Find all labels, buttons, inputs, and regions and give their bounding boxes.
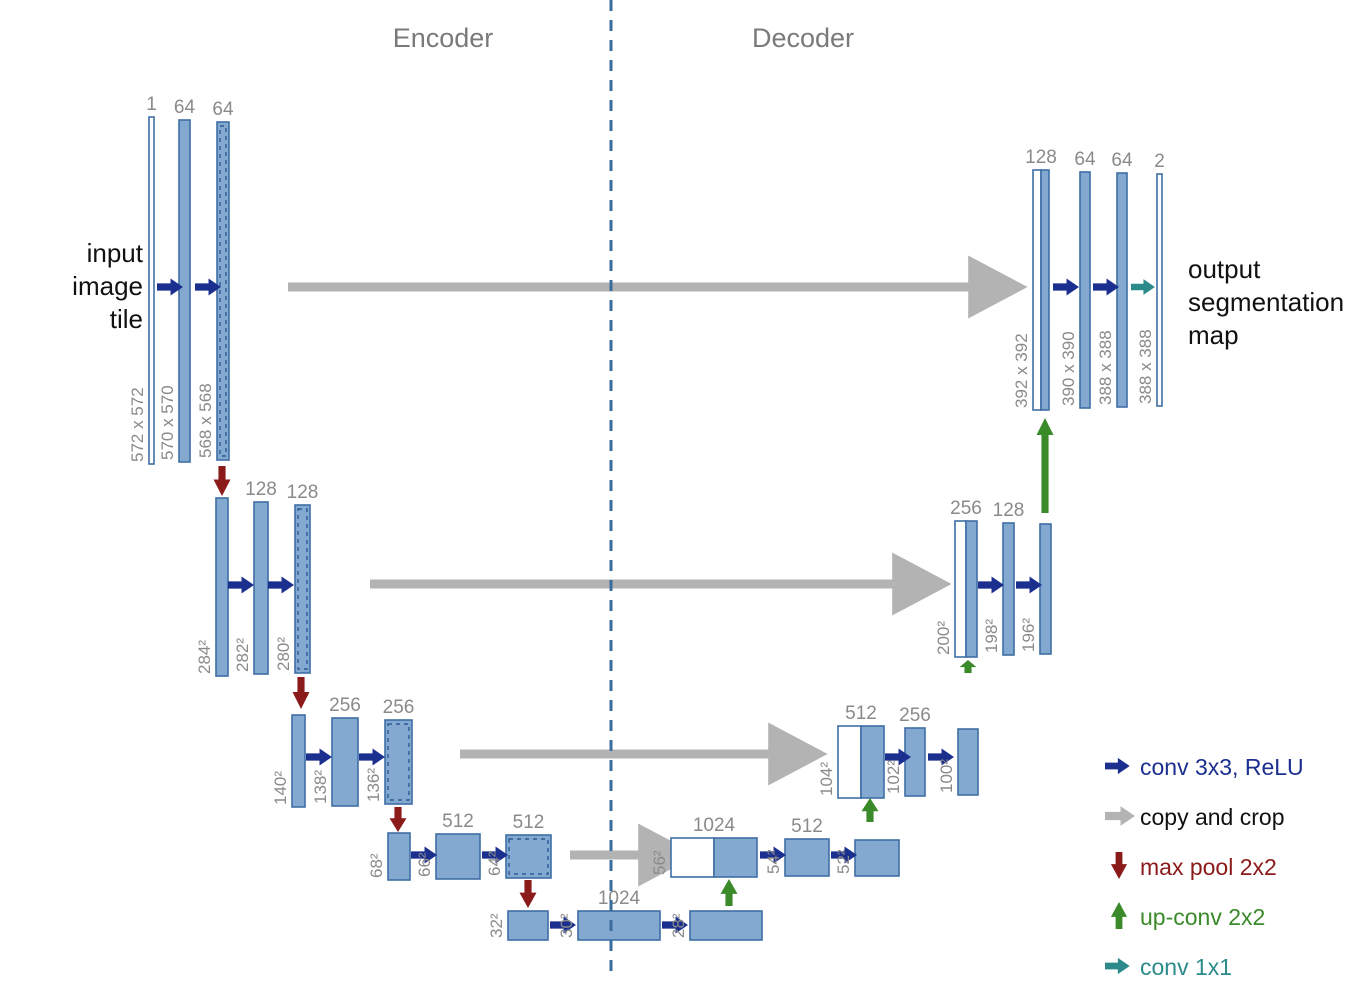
block-4-up — [671, 838, 757, 877]
block-2-c1-rect — [254, 502, 268, 674]
block-1-out — [1157, 174, 1162, 406]
right-arrow-icon — [1105, 806, 1135, 826]
legend-label-3: up-conv 2x2 — [1140, 904, 1265, 930]
block-3-up-crop — [838, 726, 861, 798]
block-4-c1-rect — [436, 834, 480, 879]
block-3-d2-dim: 100² — [937, 759, 956, 793]
diagram-canvas: 1572 x 57264570 x 57064568 x 568128392 x… — [0, 0, 1368, 984]
block-1-up — [1033, 170, 1049, 410]
block-4-d2 — [855, 840, 899, 876]
block-1-up-crop — [1033, 170, 1041, 410]
block-4-c2-channels: 512 — [513, 812, 545, 833]
block-1-d2-channels: 64 — [1111, 150, 1133, 171]
block-1-out-dim: 388 x 388 — [1136, 329, 1155, 404]
block-5-c1 — [578, 911, 660, 940]
block-4-up-channels: 1024 — [693, 815, 736, 836]
conv-arrow — [306, 749, 332, 766]
maxpool-arrow — [390, 807, 407, 832]
block-3-up-dim: 104² — [817, 762, 836, 796]
block-4-d1-channels: 512 — [791, 816, 823, 837]
output-label-line-0: output — [1188, 254, 1261, 284]
input-label-line-2: tile — [110, 304, 143, 334]
block-3-c1-rect — [332, 718, 358, 806]
legend-label-4: conv 1x1 — [1140, 954, 1232, 980]
block-4-in-dim: 68² — [367, 853, 386, 878]
block-1-d2 — [1117, 173, 1127, 407]
block-1-c2-rect — [217, 122, 229, 460]
block-2-in-dim: 284² — [195, 640, 214, 674]
block-4-in — [388, 833, 410, 880]
conv-arrow — [359, 749, 385, 766]
block-5-c2-dim: 28² — [669, 913, 688, 938]
input-label-line-1: image — [72, 271, 143, 301]
block-3-d2 — [958, 729, 978, 795]
block-4-d2-dim: 52² — [834, 849, 853, 874]
block-2-d2-rect — [1040, 524, 1051, 654]
unet-diagram: 1572 x 57264570 x 57064568 x 568128392 x… — [0, 0, 1368, 984]
block-1-up-fill — [1041, 170, 1049, 410]
block-5-in-dim: 32² — [487, 913, 506, 938]
block-4-c1-channels: 512 — [442, 811, 474, 832]
block-4-d1 — [785, 839, 829, 876]
conv-arrow — [1053, 279, 1079, 296]
conv1x1-arrow — [1131, 279, 1155, 295]
block-2-c2-rect — [295, 505, 310, 673]
block-1-d1-channels: 64 — [1074, 149, 1096, 170]
upconv-arrow — [862, 798, 879, 822]
block-4-d1-dim: 54² — [764, 849, 783, 874]
block-2-c2-channels: 128 — [287, 482, 319, 503]
block-5-c1-channels: 1024 — [598, 888, 641, 909]
block-3-up-channels: 512 — [845, 703, 877, 724]
block-5-c2-rect — [690, 911, 762, 940]
legend-label-0: conv 3x3, ReLU — [1140, 754, 1304, 780]
block-5-c1-rect — [578, 911, 660, 940]
block-1-d1-rect — [1080, 172, 1090, 408]
upconv-arrow — [1037, 418, 1054, 513]
output-label-line-2: map — [1188, 320, 1239, 350]
block-1-c1-rect — [179, 120, 190, 462]
conv-arrow — [1093, 279, 1119, 296]
block-1-out-rect — [1157, 174, 1162, 406]
block-4-up-crop — [671, 838, 714, 877]
conv-arrow — [978, 577, 1004, 594]
input-label-line-0: input — [87, 238, 144, 268]
block-1-in-channels: 1 — [146, 94, 157, 115]
block-1-c2 — [217, 122, 229, 460]
block-3-c1-dim: 138² — [311, 770, 330, 804]
block-4-in-rect — [388, 833, 410, 880]
block-2-d2-dim: 196² — [1019, 618, 1038, 652]
conv-arrow — [1016, 577, 1042, 594]
block-2-up-channels: 256 — [950, 498, 982, 519]
block-1-c2-dim: 568 x 568 — [196, 383, 215, 458]
block-3-d2-rect — [958, 729, 978, 795]
block-5-in-rect — [508, 911, 548, 940]
block-3-d1-dim: 102² — [884, 760, 903, 794]
block-2-c1-channels: 128 — [245, 479, 277, 500]
block-2-in — [216, 498, 228, 676]
block-4-up-dim: 56² — [650, 850, 669, 875]
block-3-d1 — [905, 728, 925, 796]
maxpool-arrow — [520, 880, 537, 908]
block-1-c1-dim: 570 x 570 — [158, 385, 177, 460]
block-4-c1 — [436, 834, 480, 879]
right-arrow-icon — [1105, 758, 1130, 774]
block-4-c2-rect — [506, 835, 551, 878]
block-1-c1-channels: 64 — [174, 97, 196, 118]
block-2-up-dim: 200² — [934, 621, 953, 655]
block-1-in — [149, 117, 154, 464]
legend-label-1: copy and crop — [1140, 804, 1284, 830]
up-arrow-icon — [1111, 902, 1127, 929]
block-1-d1-dim: 390 x 390 — [1059, 331, 1078, 406]
block-3-c1-channels: 256 — [329, 695, 361, 716]
upconv-arrow — [721, 879, 738, 906]
block-3-c1 — [332, 718, 358, 806]
phase-label-encoder: Encoder — [393, 23, 494, 53]
block-4-up-fill — [714, 838, 757, 877]
down-arrow-icon — [1111, 852, 1127, 879]
block-5-c1-dim: 30² — [557, 913, 576, 938]
block-2-d1 — [1003, 523, 1014, 655]
block-3-up — [838, 726, 884, 798]
maxpool-arrow — [214, 466, 231, 496]
block-3-c2-dim: 136² — [364, 768, 383, 802]
block-1-c2-channels: 64 — [212, 99, 234, 120]
block-2-c2-dim: 280² — [274, 637, 293, 671]
block-2-c2 — [295, 505, 310, 673]
block-1-d2-dim: 388 x 388 — [1096, 330, 1115, 405]
block-4-d2-rect — [855, 840, 899, 876]
block-2-c1-dim: 282² — [233, 638, 252, 672]
maxpool-arrow — [293, 677, 310, 709]
block-3-d1-rect — [905, 728, 925, 796]
block-2-d1-channels: 128 — [993, 500, 1025, 521]
block-5-in — [508, 911, 548, 940]
conv-arrow — [268, 577, 294, 594]
block-1-up-channels: 128 — [1025, 147, 1057, 168]
block-2-up-crop — [955, 521, 966, 657]
block-2-d1-rect — [1003, 523, 1014, 655]
block-1-d2-rect — [1117, 173, 1127, 407]
block-2-up-fill — [966, 521, 977, 657]
block-1-d1 — [1080, 172, 1090, 408]
block-3-c2-rect — [385, 720, 412, 804]
block-2-up — [955, 521, 977, 657]
block-4-c2-dim: 64² — [485, 851, 504, 876]
block-3-c2 — [385, 720, 412, 804]
block-3-c2-channels: 256 — [383, 697, 415, 718]
block-5-c2 — [690, 911, 762, 940]
block-1-in-rect — [149, 117, 154, 464]
block-3-in-rect — [292, 715, 305, 807]
block-2-d2 — [1040, 524, 1051, 654]
block-3-in-dim: 140² — [271, 771, 290, 805]
phase-label-decoder: Decoder — [752, 23, 854, 53]
block-4-d1-rect — [785, 839, 829, 876]
block-3-up-fill — [861, 726, 884, 798]
upconv-arrow — [960, 660, 977, 673]
block-4-c1-dim: 66² — [415, 852, 434, 877]
block-4-c2 — [506, 835, 551, 878]
block-1-in-dim: 572 x 572 — [128, 387, 147, 462]
block-2-d1-dim: 198² — [982, 619, 1001, 653]
block-2-c1 — [254, 502, 268, 674]
block-3-in — [292, 715, 305, 807]
right-arrow-icon — [1105, 958, 1130, 974]
block-3-d1-channels: 256 — [899, 705, 931, 726]
block-1-c1 — [179, 120, 190, 462]
output-label-line-1: segmentation — [1188, 287, 1344, 317]
block-1-out-channels: 2 — [1154, 151, 1165, 172]
conv-arrow — [228, 577, 254, 594]
legend-label-2: max pool 2x2 — [1140, 854, 1277, 880]
block-1-up-dim: 392 x 392 — [1012, 333, 1031, 408]
block-2-in-rect — [216, 498, 228, 676]
